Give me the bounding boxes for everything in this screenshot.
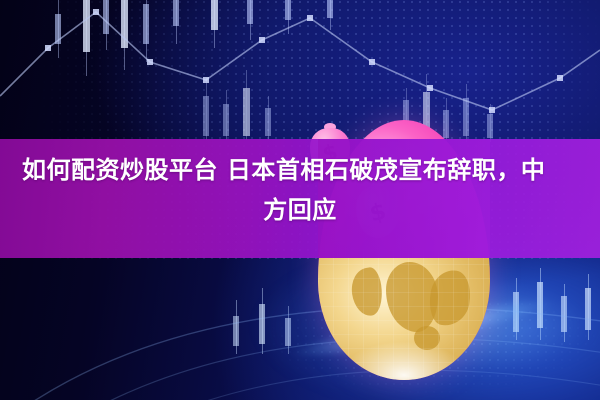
screenshot-stage: $ $ 如何配资炒股平台 日本首相石破茂宣布辞职，中 方回应 xyxy=(0,0,600,400)
headline-line-2: 方回应 xyxy=(22,190,578,230)
globe-meridian-grid xyxy=(318,250,490,380)
page-title: 如何配资炒股平台 日本首相石破茂宣布辞职，中 方回应 xyxy=(22,150,578,230)
headline-line-1: 如何配资炒股平台 日本首相石破茂宣布辞职，中 xyxy=(22,156,545,184)
